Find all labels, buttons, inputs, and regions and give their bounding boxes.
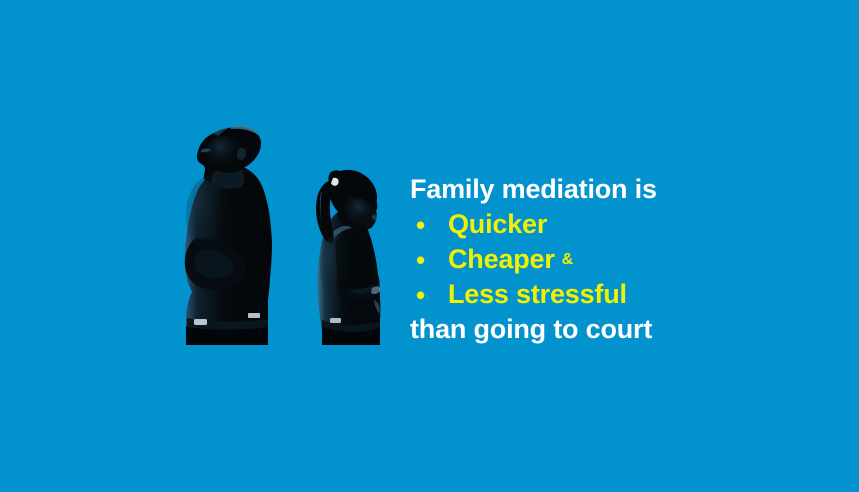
headline-line: Family mediation is xyxy=(410,172,810,207)
bullet-label-less-stressful: Less stressful xyxy=(448,279,627,310)
woman-silhouette xyxy=(316,170,380,346)
man-silhouette xyxy=(185,125,272,346)
bullet-dot-icon: • xyxy=(410,247,448,273)
bullet-label-quicker: Quicker xyxy=(448,209,547,240)
footer-line: than going to court xyxy=(410,312,810,347)
bullet-label-cheaper: Cheaper xyxy=(448,244,555,275)
bullet-dot-icon: • xyxy=(410,212,448,238)
bullet-item-cheaper: • Cheaper & xyxy=(410,242,810,277)
footer-text: than going to court xyxy=(410,314,652,345)
bullet-item-quicker: • Quicker xyxy=(410,207,810,242)
bullet-dot-icon: • xyxy=(410,282,448,308)
headline-text: Family mediation is xyxy=(410,174,657,205)
bullet-item-less-stressful: • Less stressful xyxy=(410,277,810,312)
promo-text-block: Family mediation is • Quicker • Cheaper … xyxy=(410,172,810,347)
family-mediation-banner: Family mediation is • Quicker • Cheaper … xyxy=(0,0,859,492)
ampersand-text: & xyxy=(562,251,574,269)
